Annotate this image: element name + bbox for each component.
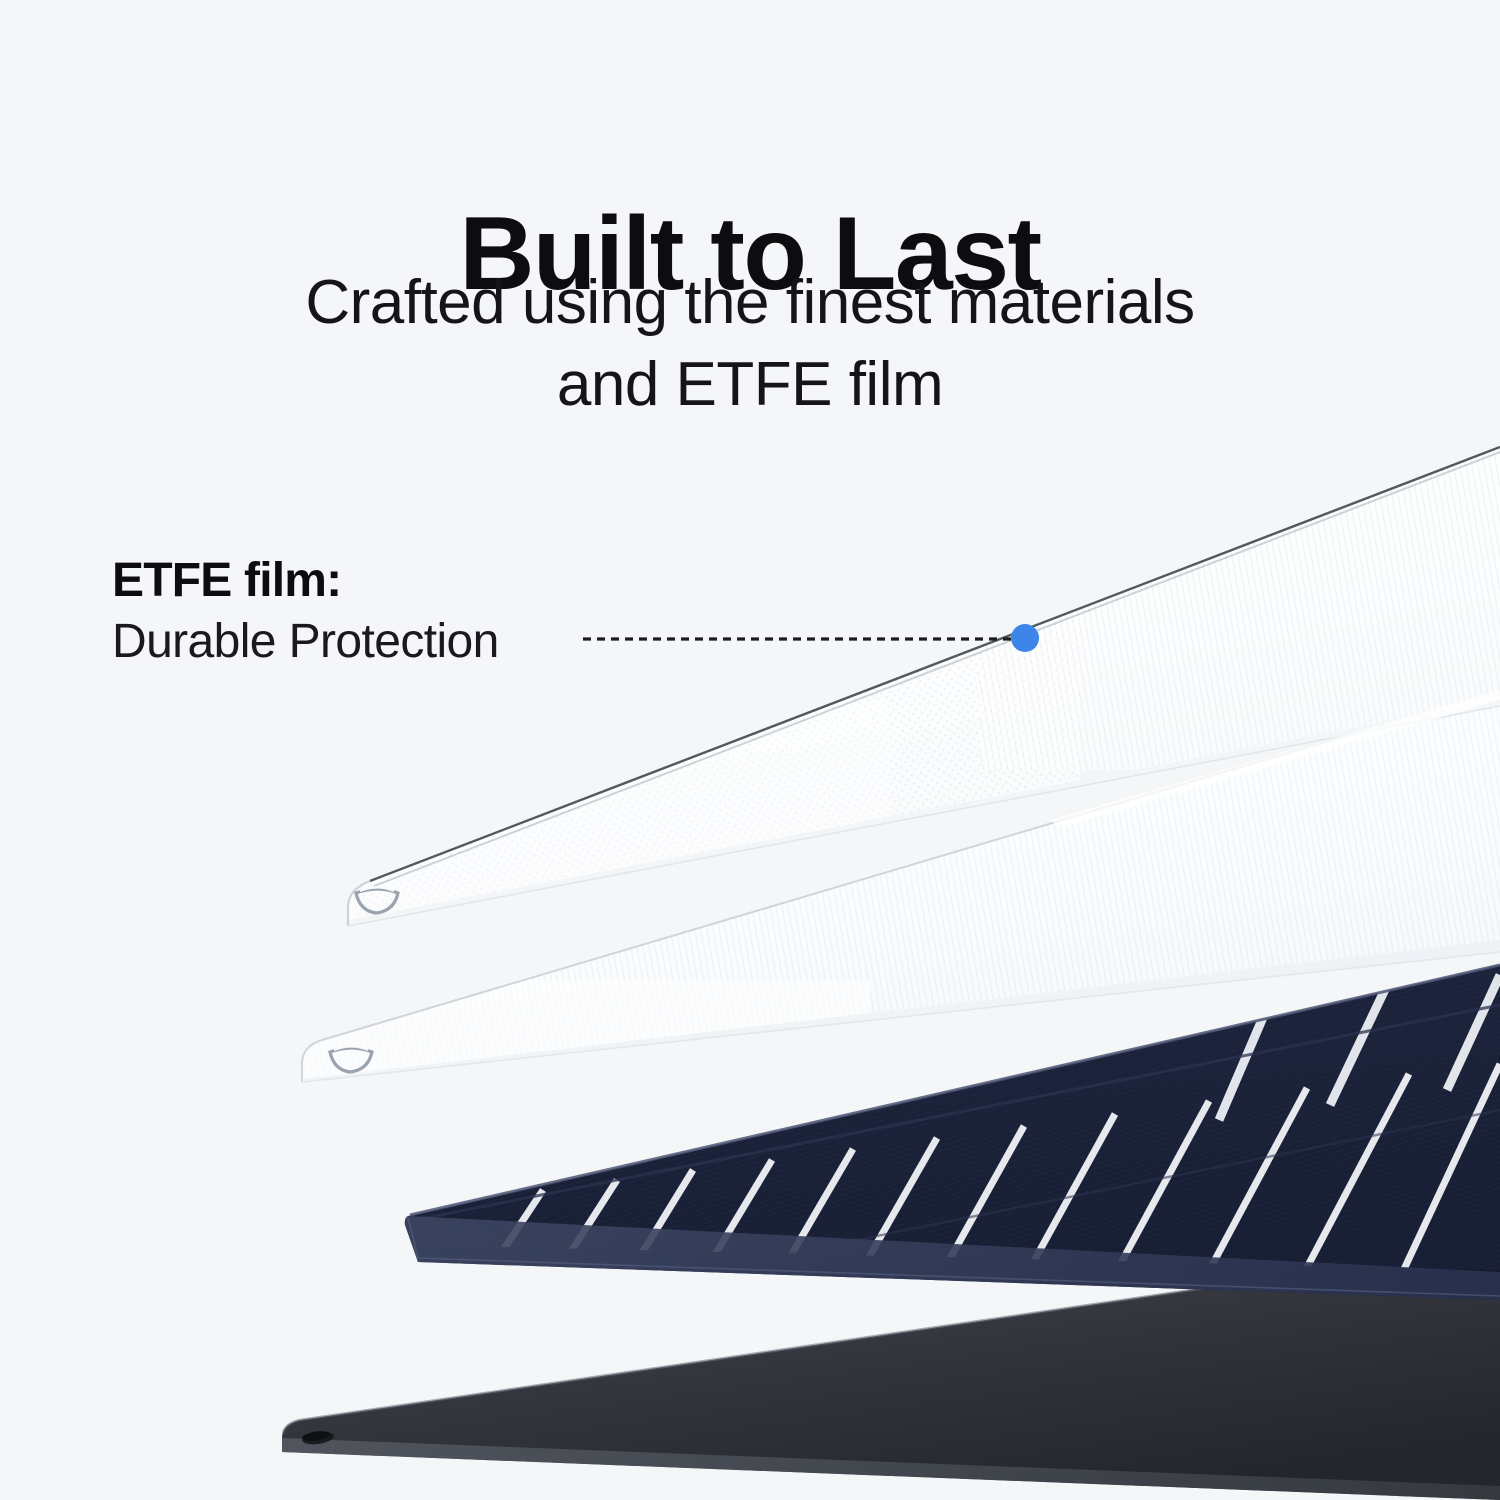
callout-marker-dot: [1011, 624, 1039, 652]
callout-title: ETFE film:: [112, 556, 732, 607]
subtitle-line-1: Crafted using the finest materials: [0, 262, 1500, 344]
callout-etfe-film: ETFE film: Durable Protection: [112, 556, 732, 668]
page-subtitle: Crafted using the finest materials and E…: [0, 262, 1500, 426]
callout-leader-line: [583, 634, 1035, 644]
product-feature-graphic: Built to Last Crafted using the finest m…: [0, 0, 1500, 1500]
subtitle-line-2: and ETFE film: [0, 344, 1500, 426]
